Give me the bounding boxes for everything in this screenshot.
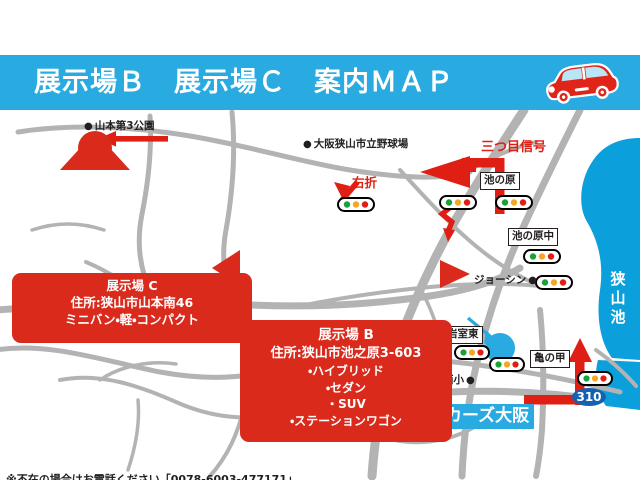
map-flyer: 展示場Ｂ 展示場Ｃ 案内ＭＡＰ xyxy=(0,0,640,480)
callout-b-title: 展示場 B xyxy=(240,320,452,345)
intersection-kamenoko: 亀の甲 xyxy=(530,350,570,368)
callout-b-item-wagon: ・ステーションワゴン xyxy=(240,413,452,430)
callout-exhibition-b[interactable]: 展示場 B 住所:狭山市池之原3-603 ・ハイブリッド ・セダン ・SUV ・… xyxy=(240,320,452,442)
landmark-osaka-sayama-baseball-stadium: 大阪狭山市立野球場 xyxy=(303,138,408,151)
callout-c-address: 住所:狭山市山本南46 xyxy=(12,294,252,311)
landmark-joshin: ジョーシン xyxy=(474,274,537,287)
destination-badge-cars-osaka[interactable]: カーズ大阪 xyxy=(440,404,534,429)
callout-c-title: 展示場 C xyxy=(12,273,252,294)
intersection-ikenohara-naka: 池の原中 xyxy=(508,228,558,246)
exhibition-c-marker xyxy=(78,131,112,165)
callout-exhibition-c[interactable]: 展示場 C 住所:狭山市山本南46 ミニバン・軽・コンパクト xyxy=(12,273,252,343)
annotation-turn-right: 右折 xyxy=(352,172,377,191)
landmark-yamamoto-3rd-park: 山本第3公園 xyxy=(84,120,155,133)
callout-b-address: 住所:狭山市池之原3-603 xyxy=(240,345,452,363)
callout-c-vehicles: ミニバン・軽・コンパクト xyxy=(12,311,252,328)
sayama-pond-text: 狭山池 xyxy=(610,270,625,326)
red-minivan-icon xyxy=(537,59,623,107)
label-sayama-pond: 狭山池 xyxy=(607,270,629,327)
callout-b-item-suv: ・SUV xyxy=(240,396,452,413)
map-canvas[interactable]: 山本第3公園 大阪狭山市立野球場 ローソン ジョーシン 大阪狭山郵便局 大阪狭山… xyxy=(0,110,640,480)
page-title: 展示場Ｂ 展示場Ｃ 案内ＭＡＰ xyxy=(34,64,504,102)
note-absence-phone: ※不在の場合はお電話ください「0078-6003-477171」 xyxy=(6,472,306,480)
route-shield-310: 310 xyxy=(572,388,606,406)
footer-notes: ※不在の場合はお電話ください「0078-6003-477171」 すぐにスタッフ… xyxy=(6,472,306,480)
callout-b-item-sedan: ・セダン xyxy=(240,380,452,397)
intersection-ikenohara: 池の原 xyxy=(480,172,520,190)
annotation-third-signal: 三つ目信号 xyxy=(481,136,546,155)
callout-b-item-hybrid: ・ハイブリッド xyxy=(240,363,452,380)
